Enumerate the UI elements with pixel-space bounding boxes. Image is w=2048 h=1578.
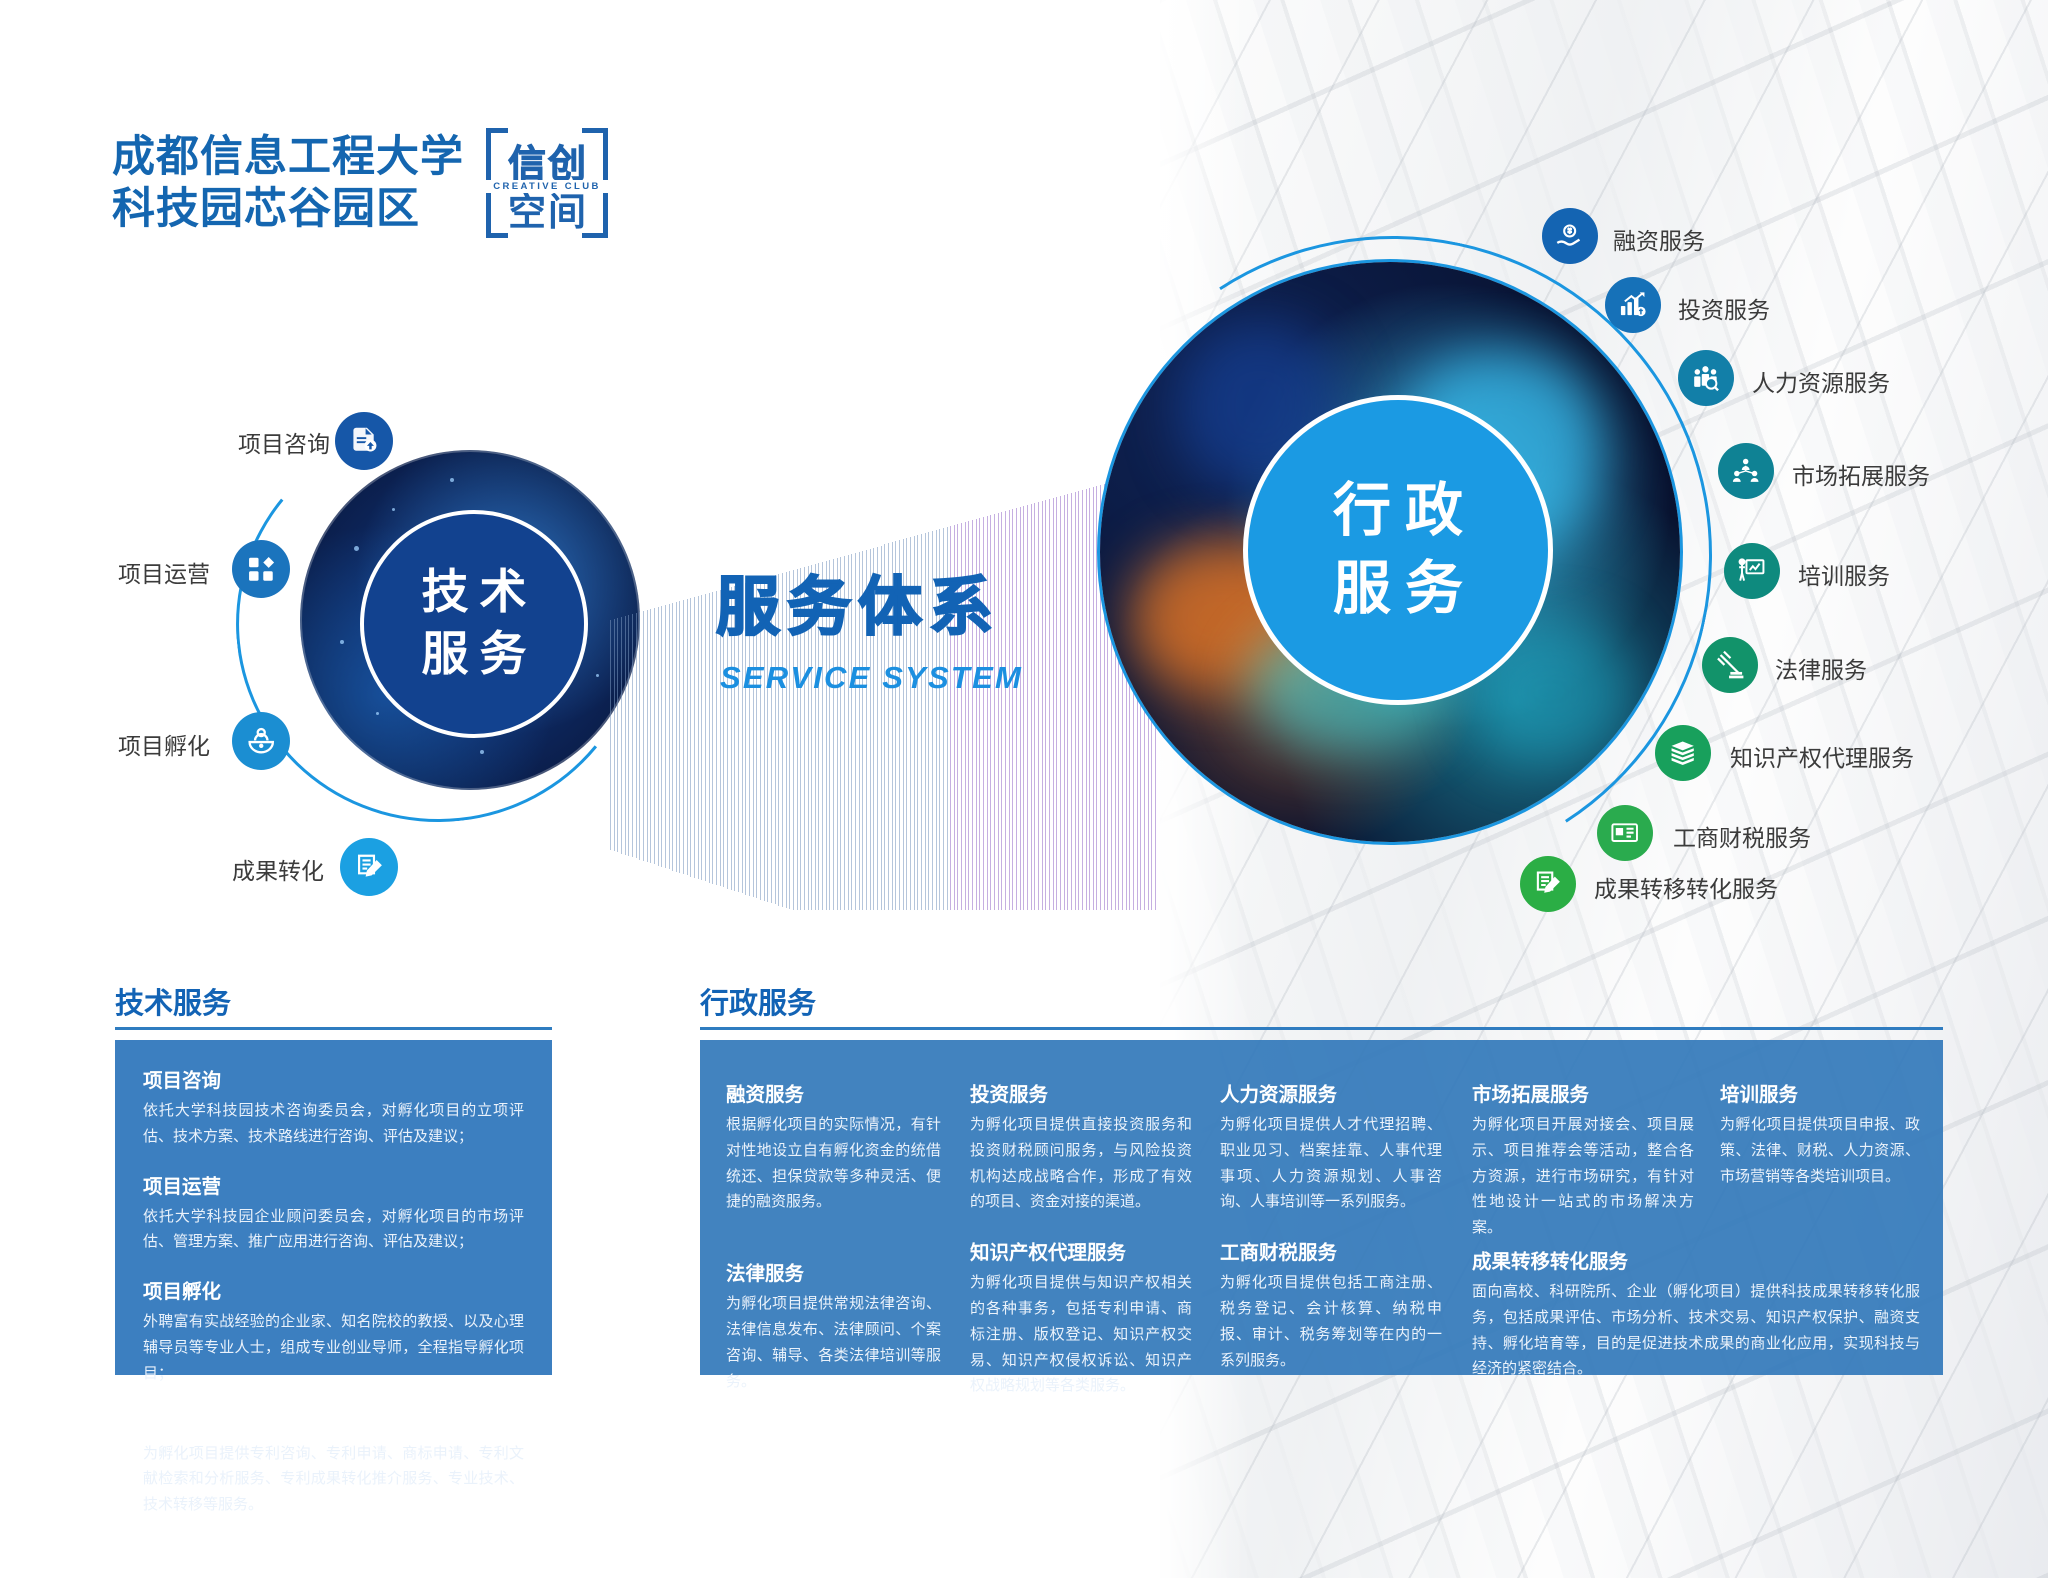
stripe-line [1045, 500, 1046, 910]
tech-block-body: 依托大学科技园技术咨询委员会，对孵化项目的立项评估、技术方案、技术路线进行咨询、… [143, 1098, 524, 1150]
stripe-line [1034, 503, 1035, 910]
tech-service-hub-circle: 技术 服务 [300, 450, 640, 790]
admin-node-3-icon[interactable] [1718, 443, 1774, 499]
stripe-line [676, 602, 677, 872]
organization-name: 成都信息工程大学 科技园芯谷园区 [112, 131, 464, 236]
stripe-line [1031, 504, 1032, 910]
stripe-line [687, 599, 688, 876]
admin-panel: 融资服务 根据孵化项目的实际情况，有针对性地设立自有孵化资金的统借统还、担保贷款… [700, 1040, 1943, 1375]
admin-node-8-label: 成果转移转化服务 [1594, 870, 1778, 904]
tech-block: 成果转化 为孵化项目提供专利咨询、专利申请、商标申请、专利文献检索和分析服务、专… [143, 1407, 524, 1518]
stripe-line [669, 604, 670, 869]
admin-panel-rule [700, 1027, 1943, 1030]
stripe-line [1042, 501, 1043, 910]
admin-wide-block-body: 面向高校、科研院所、企业（孵化项目）提供科技成果转移转化服务，包括成果评估、市场… [1472, 1279, 1920, 1382]
stripe-line [1027, 505, 1028, 910]
admin-column: 融资服务 根据孵化项目的实际情况，有针对性地设立自有孵化资金的统借统还、担保贷款… [726, 1078, 941, 1414]
stripe-line [1023, 506, 1024, 910]
stripe-line [1071, 493, 1072, 910]
creative-club-badge: 信创 CREATIVE CLUB 空间 [486, 128, 608, 238]
admin-block-title: 法律服务 [726, 1257, 941, 1286]
stripe-line [1038, 502, 1039, 910]
tech-block-body: 为孵化项目提供专利咨询、专利申请、商标申请、专利文献检索和分析服务、专利成果转化… [143, 1441, 524, 1518]
stripe-line [698, 596, 699, 879]
stripe-line [1064, 495, 1065, 910]
stripe-line [617, 618, 618, 852]
stripe-line [650, 609, 651, 863]
admin-block: 培训服务 为孵化项目提供项目申报、政策、法律、财税、人力资源、市场营销等各类培训… [1720, 1078, 1920, 1189]
admin-column: 培训服务 为孵化项目提供项目申报、政策、法律、财税、人力资源、市场营销等各类培训… [1720, 1078, 1920, 1209]
admin-node-8-icon[interactable] [1520, 856, 1576, 912]
tech-node-2-icon[interactable] [232, 712, 290, 770]
admin-block: 市场拓展服务 为孵化项目开展对接会、项目展示、项目推荐会等活动，整合各方资源，进… [1472, 1078, 1694, 1241]
admin-block-body: 为孵化项目提供项目申报、政策、法律、财税、人力资源、市场营销等各类培训项目。 [1720, 1112, 1920, 1189]
tech-node-3-label: 成果转化 [232, 852, 324, 886]
tech-node-1-icon[interactable] [232, 540, 290, 598]
center-title-en: SERVICE SYSTEM [720, 660, 1023, 696]
admin-block: 知识产权代理服务 为孵化项目提供与知识产权相关的各种事务，包括专利申请、商标注册… [970, 1236, 1192, 1399]
admin-wide-block-title: 成果转移转化服务 [1472, 1245, 1920, 1274]
admin-block-body: 为孵化项目提供包括工商注册、税务登记、会计核算、纳税申报、审计、税务筹划等在内的… [1220, 1270, 1442, 1373]
admin-node-5-icon[interactable] [1702, 637, 1758, 693]
admin-node-7-icon[interactable] [1597, 805, 1653, 861]
stripe-line [665, 605, 666, 868]
stripe-line [621, 617, 622, 854]
stripe-line [628, 615, 629, 856]
tech-block-body: 外聘富有实战经验的企业家、知名院校的教授、以及心理辅导员等专业人士，组成专业创业… [143, 1309, 524, 1386]
stripe-line [672, 603, 673, 871]
stripe-line [1049, 499, 1050, 910]
stripe-line [709, 593, 710, 883]
tech-panel-heading: 技术服务 [115, 980, 231, 1022]
tech-panel: 项目咨询 依托大学科技园技术咨询委员会，对孵化项目的立项评估、技术方案、技术路线… [115, 1040, 552, 1375]
center-title: 服务体系 SERVICE SYSTEM [716, 556, 1023, 696]
admin-node-6-label: 知识产权代理服务 [1730, 739, 1914, 773]
tech-block: 项目咨询 依托大学科技园技术咨询委员会，对孵化项目的立项评估、技术方案、技术路线… [143, 1064, 524, 1150]
admin-block-body: 根据孵化项目的实际情况，有针对性地设立自有孵化资金的统借统还、担保贷款等多种灵活… [726, 1112, 941, 1215]
stripe-line [614, 619, 615, 851]
organization-name-line1: 成都信息工程大学 [112, 131, 464, 183]
tech-panel-rule [115, 1027, 552, 1030]
stripe-line [701, 595, 702, 880]
admin-node-0-icon[interactable] [1542, 208, 1598, 264]
badge-english-label: CREATIVE CLUB [486, 180, 608, 193]
tech-node-3-icon[interactable] [340, 838, 398, 896]
admin-block-title: 知识产权代理服务 [970, 1236, 1192, 1265]
admin-block-title: 人力资源服务 [1220, 1078, 1442, 1107]
admin-block-title: 工商财税服务 [1220, 1236, 1442, 1265]
tech-node-0-label: 项目咨询 [238, 425, 330, 459]
brand-logo: 成都信息工程大学 科技园芯谷园区 信创 CREATIVE CLUB 空间 [112, 128, 608, 238]
tech-hub-line2: 服务 [411, 624, 538, 686]
admin-node-5-label: 法律服务 [1775, 651, 1867, 685]
tech-block-body: 依托大学科技园企业顾问委员会，对孵化项目的市场评估、管理方案、推广应用进行咨询、… [143, 1204, 524, 1256]
admin-column: 人力资源服务 为孵化项目提供人才代理招聘、职业见习、档案挂靠、人事代理事项、人力… [1220, 1078, 1442, 1393]
admin-column: 市场拓展服务 为孵化项目开展对接会、项目展示、项目推荐会等活动，整合各方资源，进… [1472, 1078, 1694, 1261]
admin-block: 法律服务 为孵化项目提供常规法律咨询、法律信息发布、法律顾问、个案咨询、辅导、各… [726, 1257, 941, 1394]
stripe-line [712, 592, 713, 884]
admin-block-title: 市场拓展服务 [1472, 1078, 1694, 1107]
admin-node-1-icon[interactable] [1605, 277, 1661, 333]
stripe-line [632, 614, 633, 857]
admin-block-body: 为孵化项目提供与知识产权相关的各种事务，包括专利申请、商标注册、版权登记、知识产… [970, 1270, 1192, 1399]
tech-service-hub-label: 技术 服务 [360, 510, 588, 738]
admin-node-4-icon[interactable] [1724, 543, 1780, 599]
stripe-line [694, 597, 695, 878]
stripe-line [683, 600, 684, 874]
admin-node-4-label: 培训服务 [1798, 557, 1890, 591]
stripe-line [705, 594, 706, 882]
tech-node-1-label: 项目运营 [118, 555, 210, 589]
stripe-line [625, 616, 626, 855]
tech-block: 项目孵化 外聘富有实战经验的企业家、知名院校的教授、以及心理辅导员等专业人士，组… [143, 1275, 524, 1386]
tech-hub-line1: 技术 [411, 562, 538, 624]
tech-block: 项目运营 依托大学科技园企业顾问委员会，对孵化项目的市场评估、管理方案、推广应用… [143, 1170, 524, 1256]
tech-node-0-icon[interactable] [335, 412, 393, 470]
admin-node-2-icon[interactable] [1678, 350, 1734, 406]
admin-panel-heading: 行政服务 [700, 980, 816, 1022]
admin-block-title: 投资服务 [970, 1078, 1192, 1107]
tech-node-2-label: 项目孵化 [118, 727, 210, 761]
admin-node-2-label: 人力资源服务 [1752, 364, 1890, 398]
admin-block-body: 为孵化项目提供直接投资服务和投资财税顾问服务，与风险投资机构达成战略合作，形成了… [970, 1112, 1192, 1215]
admin-block: 工商财税服务 为孵化项目提供包括工商注册、税务登记、会计核算、纳税申报、审计、税… [1220, 1236, 1442, 1373]
admin-block: 投资服务 为孵化项目提供直接投资服务和投资财税顾问服务，与风险投资机构达成战略合… [970, 1078, 1192, 1215]
stripe-line [636, 613, 637, 859]
admin-node-6-icon[interactable] [1655, 725, 1711, 781]
admin-block-body: 为孵化项目提供人才代理招聘、职业见习、档案挂靠、人事代理事项、人力资源规划、人事… [1220, 1112, 1442, 1215]
center-title-cn: 服务体系 [716, 556, 1023, 648]
admin-column: 投资服务 为孵化项目提供直接投资服务和投资财税顾问服务，与风险投资机构达成战略合… [970, 1078, 1192, 1419]
stripe-line [679, 601, 680, 873]
stripe-line [643, 611, 644, 861]
admin-block: 融资服务 根据孵化项目的实际情况，有针对性地设立自有孵化资金的统借统还、担保贷款… [726, 1078, 941, 1215]
stripe-line [639, 612, 640, 860]
tech-block-title: 项目孵化 [143, 1275, 524, 1304]
admin-node-7-label: 工商财税服务 [1673, 819, 1811, 853]
tech-block-title: 项目运营 [143, 1170, 524, 1199]
admin-node-0-label: 融资服务 [1613, 222, 1705, 256]
admin-node-3-label: 市场拓展服务 [1792, 457, 1930, 491]
stripe-line [654, 608, 655, 865]
stripe-line [1053, 498, 1054, 910]
stripe-line [1060, 496, 1061, 910]
admin-block: 人力资源服务 为孵化项目提供人才代理招聘、职业见习、档案挂靠、人事代理事项、人力… [1220, 1078, 1442, 1215]
stripe-line [661, 606, 662, 867]
admin-block-body: 为孵化项目开展对接会、项目展示、项目推荐会等活动，整合各方资源，进行市场研究，有… [1472, 1112, 1694, 1241]
stripe-line [658, 607, 659, 866]
tech-block-title: 项目咨询 [143, 1064, 524, 1093]
stripe-line [610, 620, 611, 850]
stripe-line [1056, 497, 1057, 910]
admin-block-title: 培训服务 [1720, 1078, 1920, 1107]
admin-node-1-label: 投资服务 [1678, 291, 1770, 325]
stripe-line [647, 610, 648, 862]
admin-block-body: 为孵化项目提供常规法律咨询、法律信息发布、法律顾问、个案咨询、辅导、各类法律培训… [726, 1291, 941, 1394]
stripe-line [1067, 494, 1068, 910]
admin-block-title: 融资服务 [726, 1078, 941, 1107]
stripe-line [690, 598, 691, 877]
admin-wide-block: 成果转移转化服务 面向高校、科研院所、企业（孵化项目）提供科技成果转移转化服务，… [1472, 1245, 1920, 1382]
tech-block-title: 成果转化 [143, 1407, 524, 1436]
organization-name-line2: 科技园芯谷园区 [112, 183, 464, 235]
